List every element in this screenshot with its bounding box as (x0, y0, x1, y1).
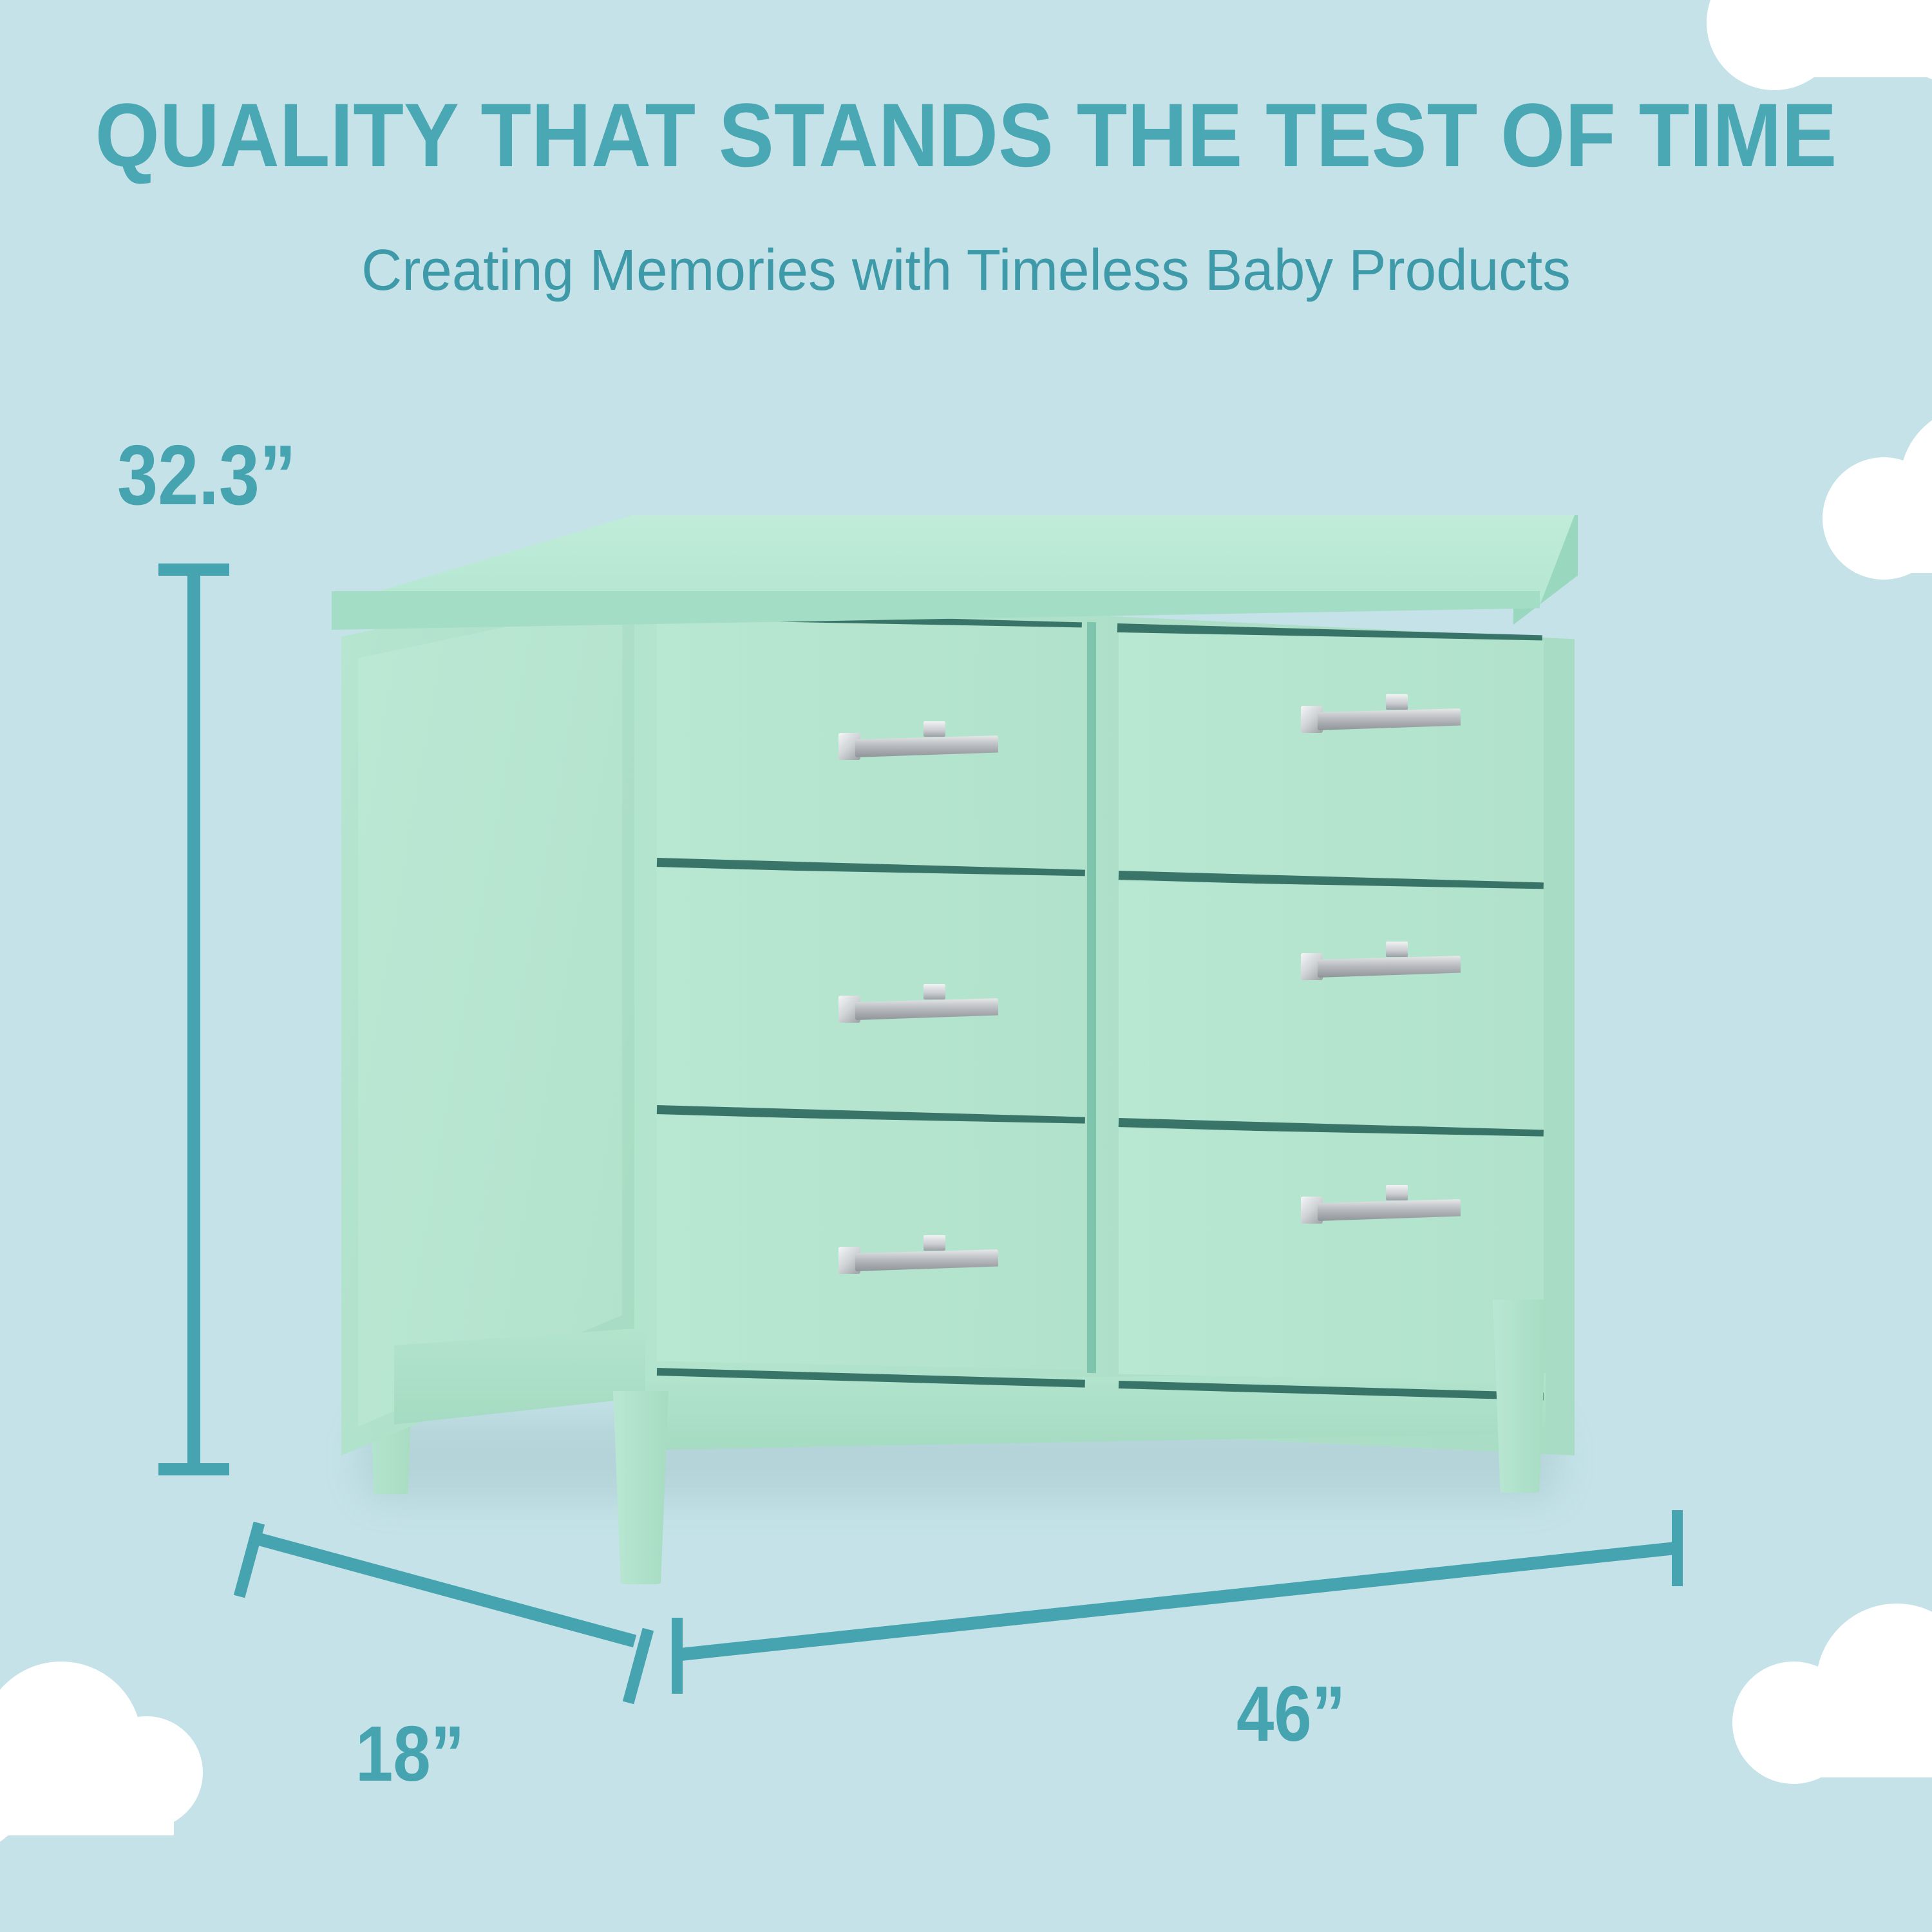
product-illustration-dresser (0, 0, 1932, 1932)
drawer-divider-row3 (1087, 1118, 1096, 1373)
dresser-side-panel-inset (358, 602, 622, 1426)
drawer-handle-row2-left[interactable] (838, 984, 999, 1023)
drawer-row3-right[interactable] (1119, 1128, 1544, 1383)
leg-front-left (613, 1391, 668, 1584)
drawer-divider-row2 (1087, 871, 1096, 1122)
dimension-label-depth: 18” (355, 1714, 464, 1793)
leg-front-right (1493, 1300, 1547, 1493)
drawer-row1-right[interactable] (1119, 632, 1544, 884)
drawer-handle-row3-right[interactable] (1301, 1185, 1462, 1224)
width-dimension-cap-right (1672, 1510, 1683, 1586)
drawer-handle-row1-left[interactable] (838, 721, 999, 760)
infographic-canvas: QUALITY THAT STANDS THE TEST OF TIME Cre… (0, 0, 1932, 1932)
drawer-divider-row1 (1087, 622, 1096, 875)
drawer-handle-row1-right[interactable] (1301, 694, 1462, 733)
dimension-label-width: 46” (1236, 1674, 1345, 1753)
drawer-row2-right[interactable] (1119, 881, 1544, 1131)
drawer-handle-row2-right[interactable] (1301, 942, 1462, 980)
drawer-handle-row3-left[interactable] (838, 1235, 999, 1274)
